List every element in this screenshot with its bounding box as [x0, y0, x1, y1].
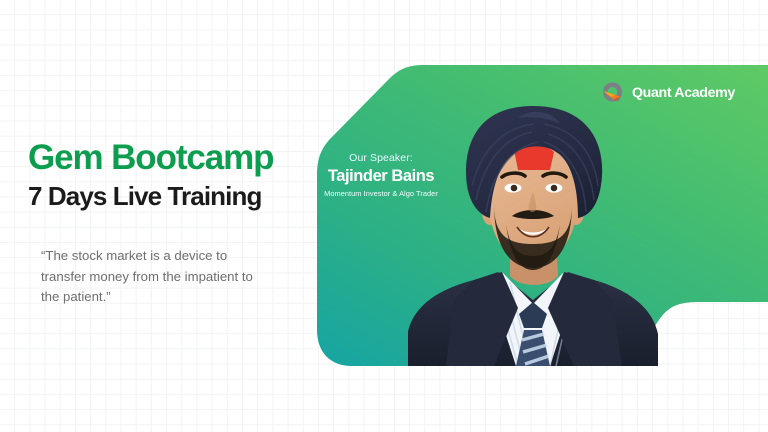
subheadline: 7 Days Live Training [28, 183, 296, 210]
speaker-photo [398, 104, 668, 394]
speaker-name: Tajinder Bains [322, 167, 440, 186]
quote-text: “The stock market is a device to transfe… [41, 246, 267, 307]
webinar-promo-banner: Gem Bootcamp 7 Days Live Training “The s… [0, 0, 768, 432]
headline: Gem Bootcamp [28, 140, 296, 176]
brand-logo-text: Quant Academy [632, 85, 735, 101]
speaker-caption: Our Speaker: Tajinder Bains Momentum Inv… [322, 152, 440, 198]
left-text-column: Gem Bootcamp 7 Days Live Training “The s… [28, 140, 296, 308]
brand-logo[interactable]: Quant Academy [600, 80, 735, 105]
speaker-kicker: Our Speaker: [322, 152, 440, 165]
speaker-role: Momentum Investor & Algo Trader [322, 190, 440, 199]
quant-academy-q-icon [600, 80, 625, 105]
